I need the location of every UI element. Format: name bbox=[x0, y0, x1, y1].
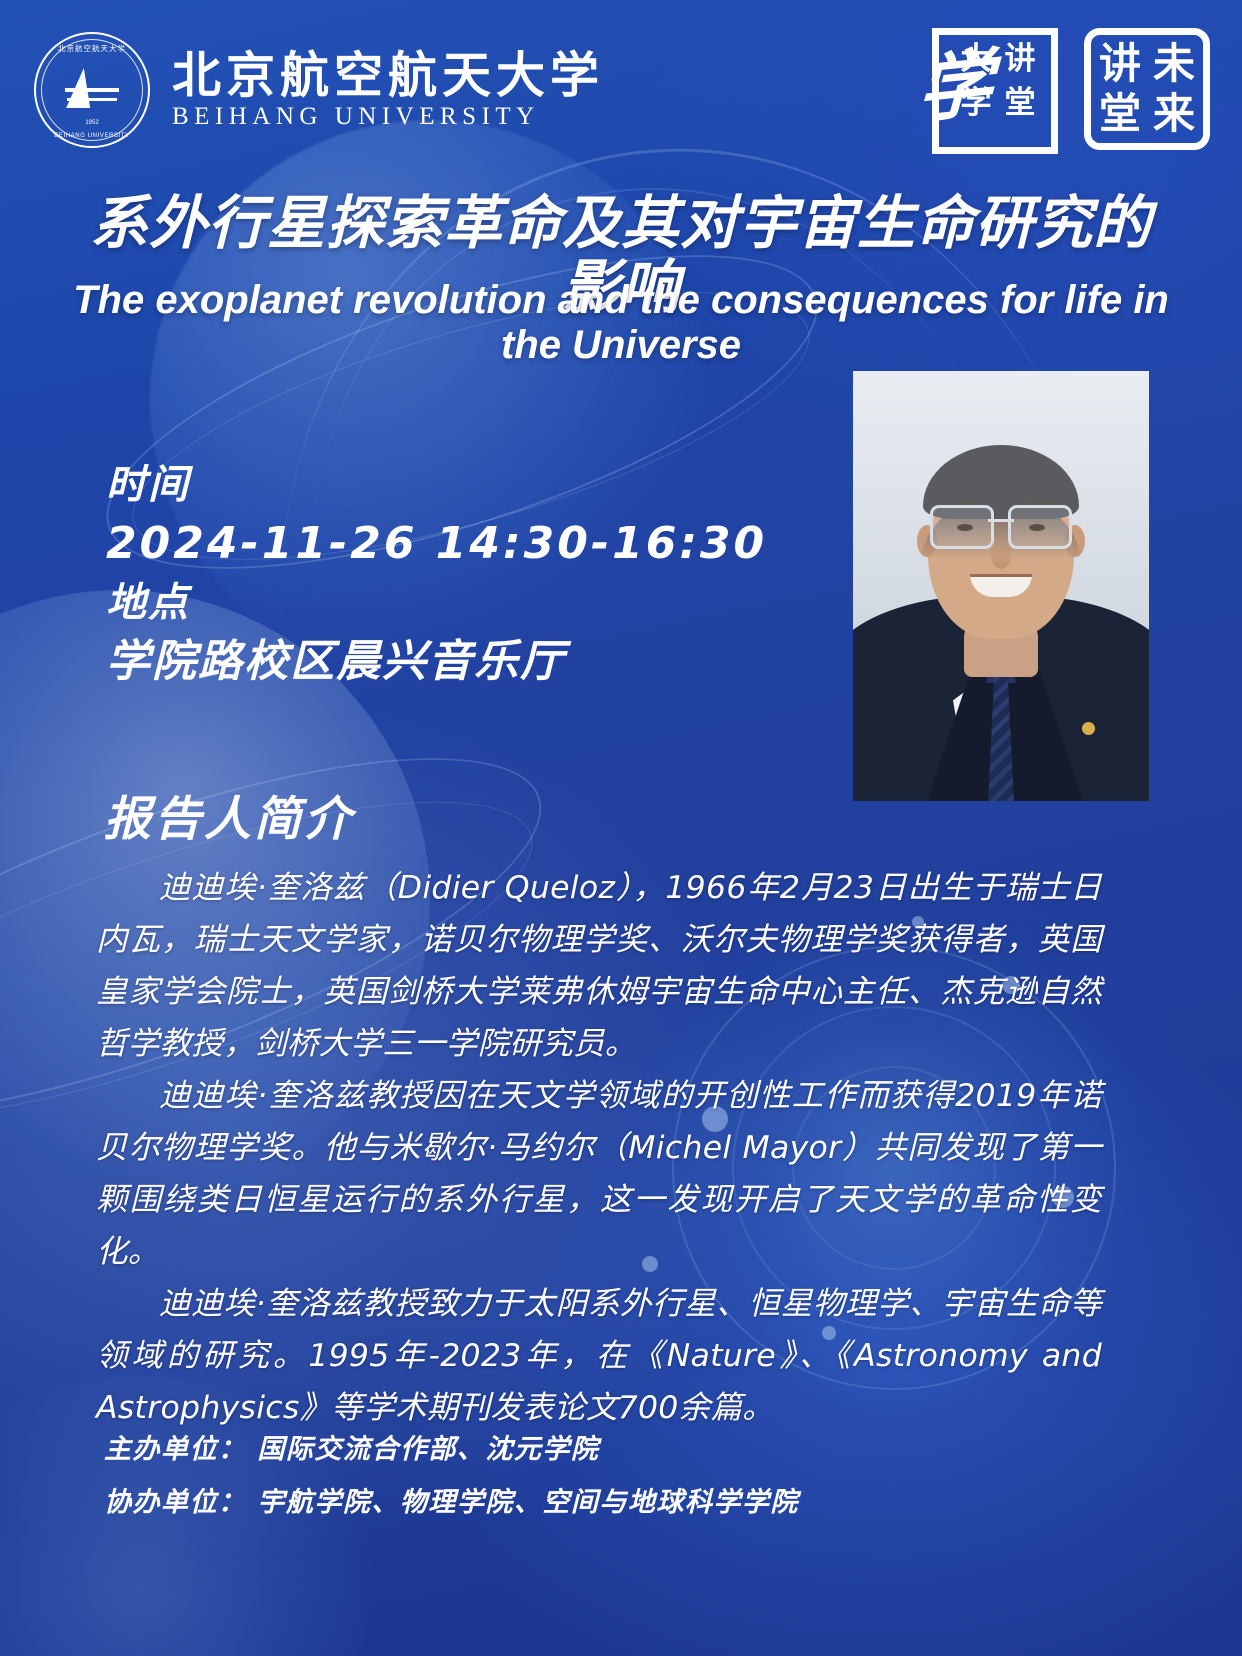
bio-paragraph-1: 迪迪埃·奎洛兹（Didier Queloz），1966年2月23日出生于瑞士日内… bbox=[96, 862, 1102, 1070]
seal-year: 1952 bbox=[36, 120, 148, 126]
co-host-organizer: 协办单位： 宇航学院、物理学院、空间与地球科学学院 bbox=[104, 1477, 799, 1530]
logo-char-1: 未 bbox=[1153, 43, 1195, 85]
poster-root: 北京航空航天大学 1952 BEIHANG UNIVERSITY 北京航空航天大… bbox=[0, 0, 1242, 1656]
university-name-en: BEIHANG UNIVERSITY bbox=[172, 104, 604, 129]
place-label: 地点 bbox=[106, 576, 767, 630]
event-meta: 时间 2024-11-26 14:30-16:30 地点 学院路校区晨兴音乐厅 bbox=[106, 458, 767, 694]
time-label: 时间 bbox=[106, 458, 767, 512]
speaker-bio: 迪迪埃·奎洛兹（Didier Queloz），1966年2月23日出生于瑞士日内… bbox=[96, 862, 1102, 1434]
organizer-info: 主办单位： 国际交流合作部、沈元学院 协办单位： 宇航学院、物理学院、空间与地球… bbox=[104, 1424, 799, 1529]
time-value: 2024-11-26 14:30-16:30 bbox=[106, 512, 767, 576]
seal-char-3: 堂 bbox=[999, 89, 1041, 131]
bio-paragraph-3: 迪迪埃·奎洛兹教授致力于太阳系外行星、恒星物理学、宇宙生命等领域的研究。1995… bbox=[96, 1278, 1102, 1434]
jiangtang-weilai-logo: 讲 未 堂 来 bbox=[1084, 28, 1210, 150]
seal-char-1: 讲 bbox=[999, 45, 1041, 87]
logo-char-3: 来 bbox=[1153, 93, 1195, 135]
university-brand: 北京航空航天大学 1952 BEIHANG UNIVERSITY 北京航空航天大… bbox=[34, 32, 604, 148]
logo-char-0: 讲 bbox=[1099, 43, 1141, 85]
program-logos: 大 讲 学 堂 学 讲 未 堂 来 bbox=[918, 28, 1210, 150]
speaker-section-title: 报告人简介 bbox=[104, 780, 354, 849]
speaker-portrait bbox=[853, 371, 1149, 801]
beihang-seal-icon: 北京航空航天大学 1952 BEIHANG UNIVERSITY bbox=[34, 32, 150, 148]
eyeglasses-icon bbox=[930, 505, 1072, 545]
lapel-pin-icon bbox=[1082, 722, 1095, 735]
seal-brush-char: 学 bbox=[916, 46, 993, 127]
seal-emblem-icon bbox=[65, 68, 119, 112]
bio-paragraph-2: 迪迪埃·奎洛兹教授因在天文学领域的开创性工作而获得2019年诺贝尔物理学奖。他与… bbox=[96, 1070, 1102, 1278]
host-organizer: 主办单位： 国际交流合作部、沈元学院 bbox=[104, 1424, 799, 1477]
seal-bottom-text: BEIHANG UNIVERSITY bbox=[36, 133, 148, 139]
seal-top-text: 北京航空航天大学 bbox=[36, 43, 148, 54]
lecture-seal-logo: 大 讲 学 堂 学 bbox=[918, 28, 1058, 150]
place-value: 学院路校区晨兴音乐厅 bbox=[106, 630, 767, 694]
poster-header: 北京航空航天大学 1952 BEIHANG UNIVERSITY 北京航空航天大… bbox=[0, 0, 1242, 170]
university-names: 北京航空航天大学 BEIHANG UNIVERSITY bbox=[172, 51, 604, 129]
logo-char-2: 堂 bbox=[1099, 93, 1141, 135]
lecture-title-en: The exoplanet revolution and the consequ… bbox=[52, 278, 1190, 368]
university-name-cn: 北京航空航天大学 bbox=[172, 51, 604, 100]
